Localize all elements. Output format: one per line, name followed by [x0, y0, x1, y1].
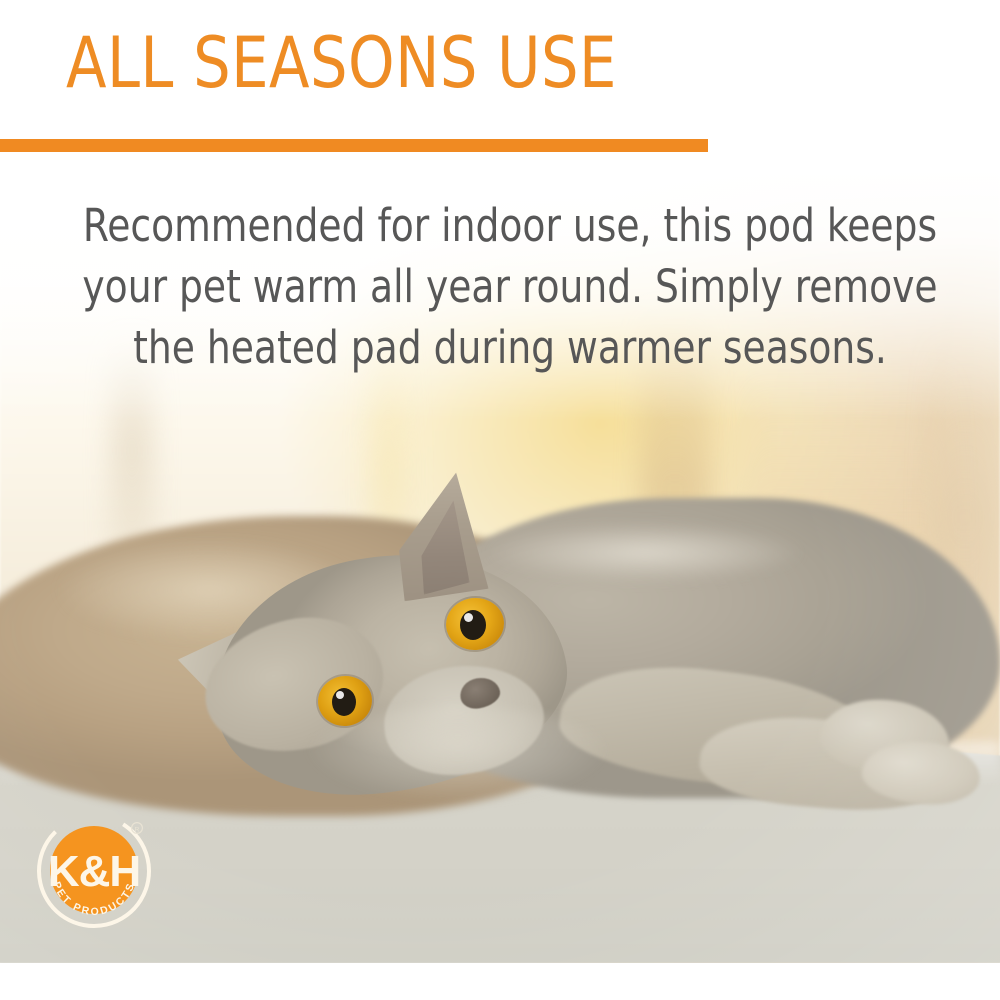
orange-divider-rule: [0, 139, 708, 152]
cat-head: [188, 470, 588, 800]
svg-text:R: R: [135, 826, 140, 833]
body-copy-line: Recommended for indoor use, this pod kee…: [73, 196, 947, 257]
body-copy-line: the heated pad during warmer seasons.: [73, 318, 947, 379]
kh-pet-products-logo: K&H PET PRODUCTS R: [33, 810, 155, 932]
page-title: ALL SEASONS USE: [66, 28, 617, 98]
infographic-canvas: ALL SEASONS USE Recommended for indoor u…: [0, 0, 1000, 1000]
cat-eye-glint: [464, 613, 473, 622]
body-copy: Recommended for indoor use, this pod kee…: [73, 196, 947, 378]
footer-white-band: [0, 963, 1000, 1000]
cat-eye-glint: [336, 691, 344, 699]
registered-trademark-icon: R: [132, 823, 143, 834]
body-copy-line: your pet warm all year round. Simply rem…: [73, 257, 947, 318]
